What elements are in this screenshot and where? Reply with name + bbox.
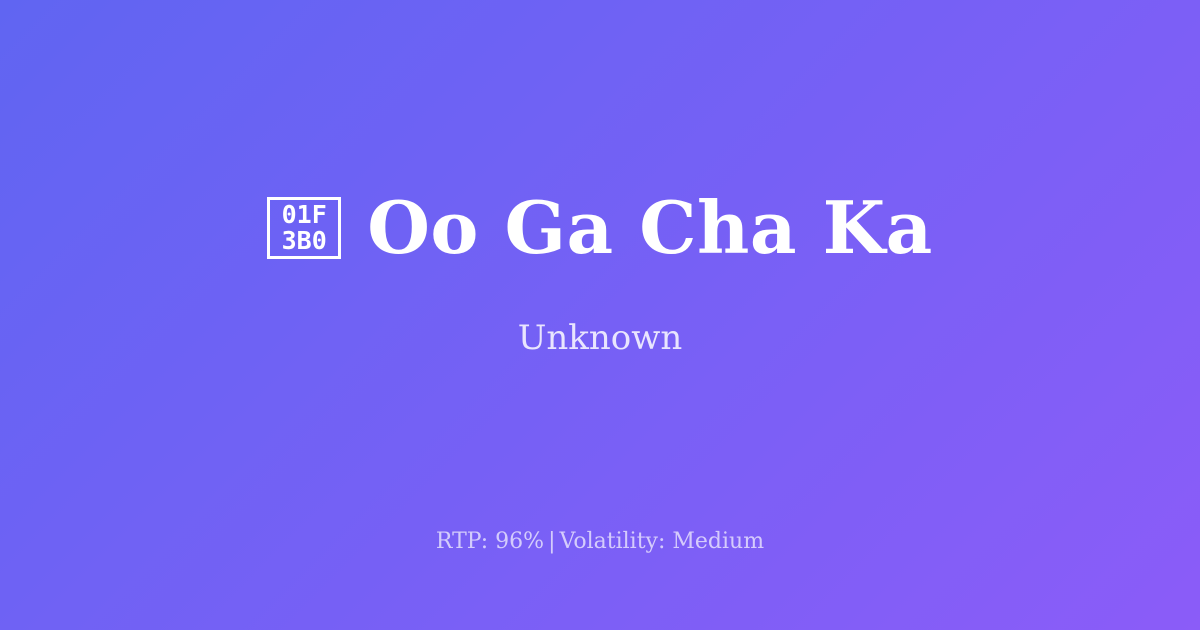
game-preview-card: 01F 3B0 Oo Ga Cha Ka Unknown RTP: 96%|Vo…: [0, 0, 1200, 630]
title-line: 01F 3B0 Oo Ga Cha Ka: [267, 189, 933, 267]
game-meta-line: RTP: 96%|Volatility: Medium: [0, 528, 1200, 556]
game-subtitle: Unknown: [518, 318, 683, 359]
tofu-codepoint-bottom: 3B0: [282, 228, 327, 254]
slot-machine-icon: 01F 3B0: [267, 197, 341, 259]
tofu-codepoint-top: 01F: [282, 202, 327, 228]
game-title: Oo Ga Cha Ka: [367, 189, 933, 267]
meta-separator: |: [544, 529, 559, 554]
rtp-label: RTP: 96%: [436, 529, 544, 554]
title-block: 01F 3B0 Oo Ga Cha Ka Unknown: [0, 0, 1200, 548]
volatility-label: Volatility: Medium: [560, 529, 765, 554]
